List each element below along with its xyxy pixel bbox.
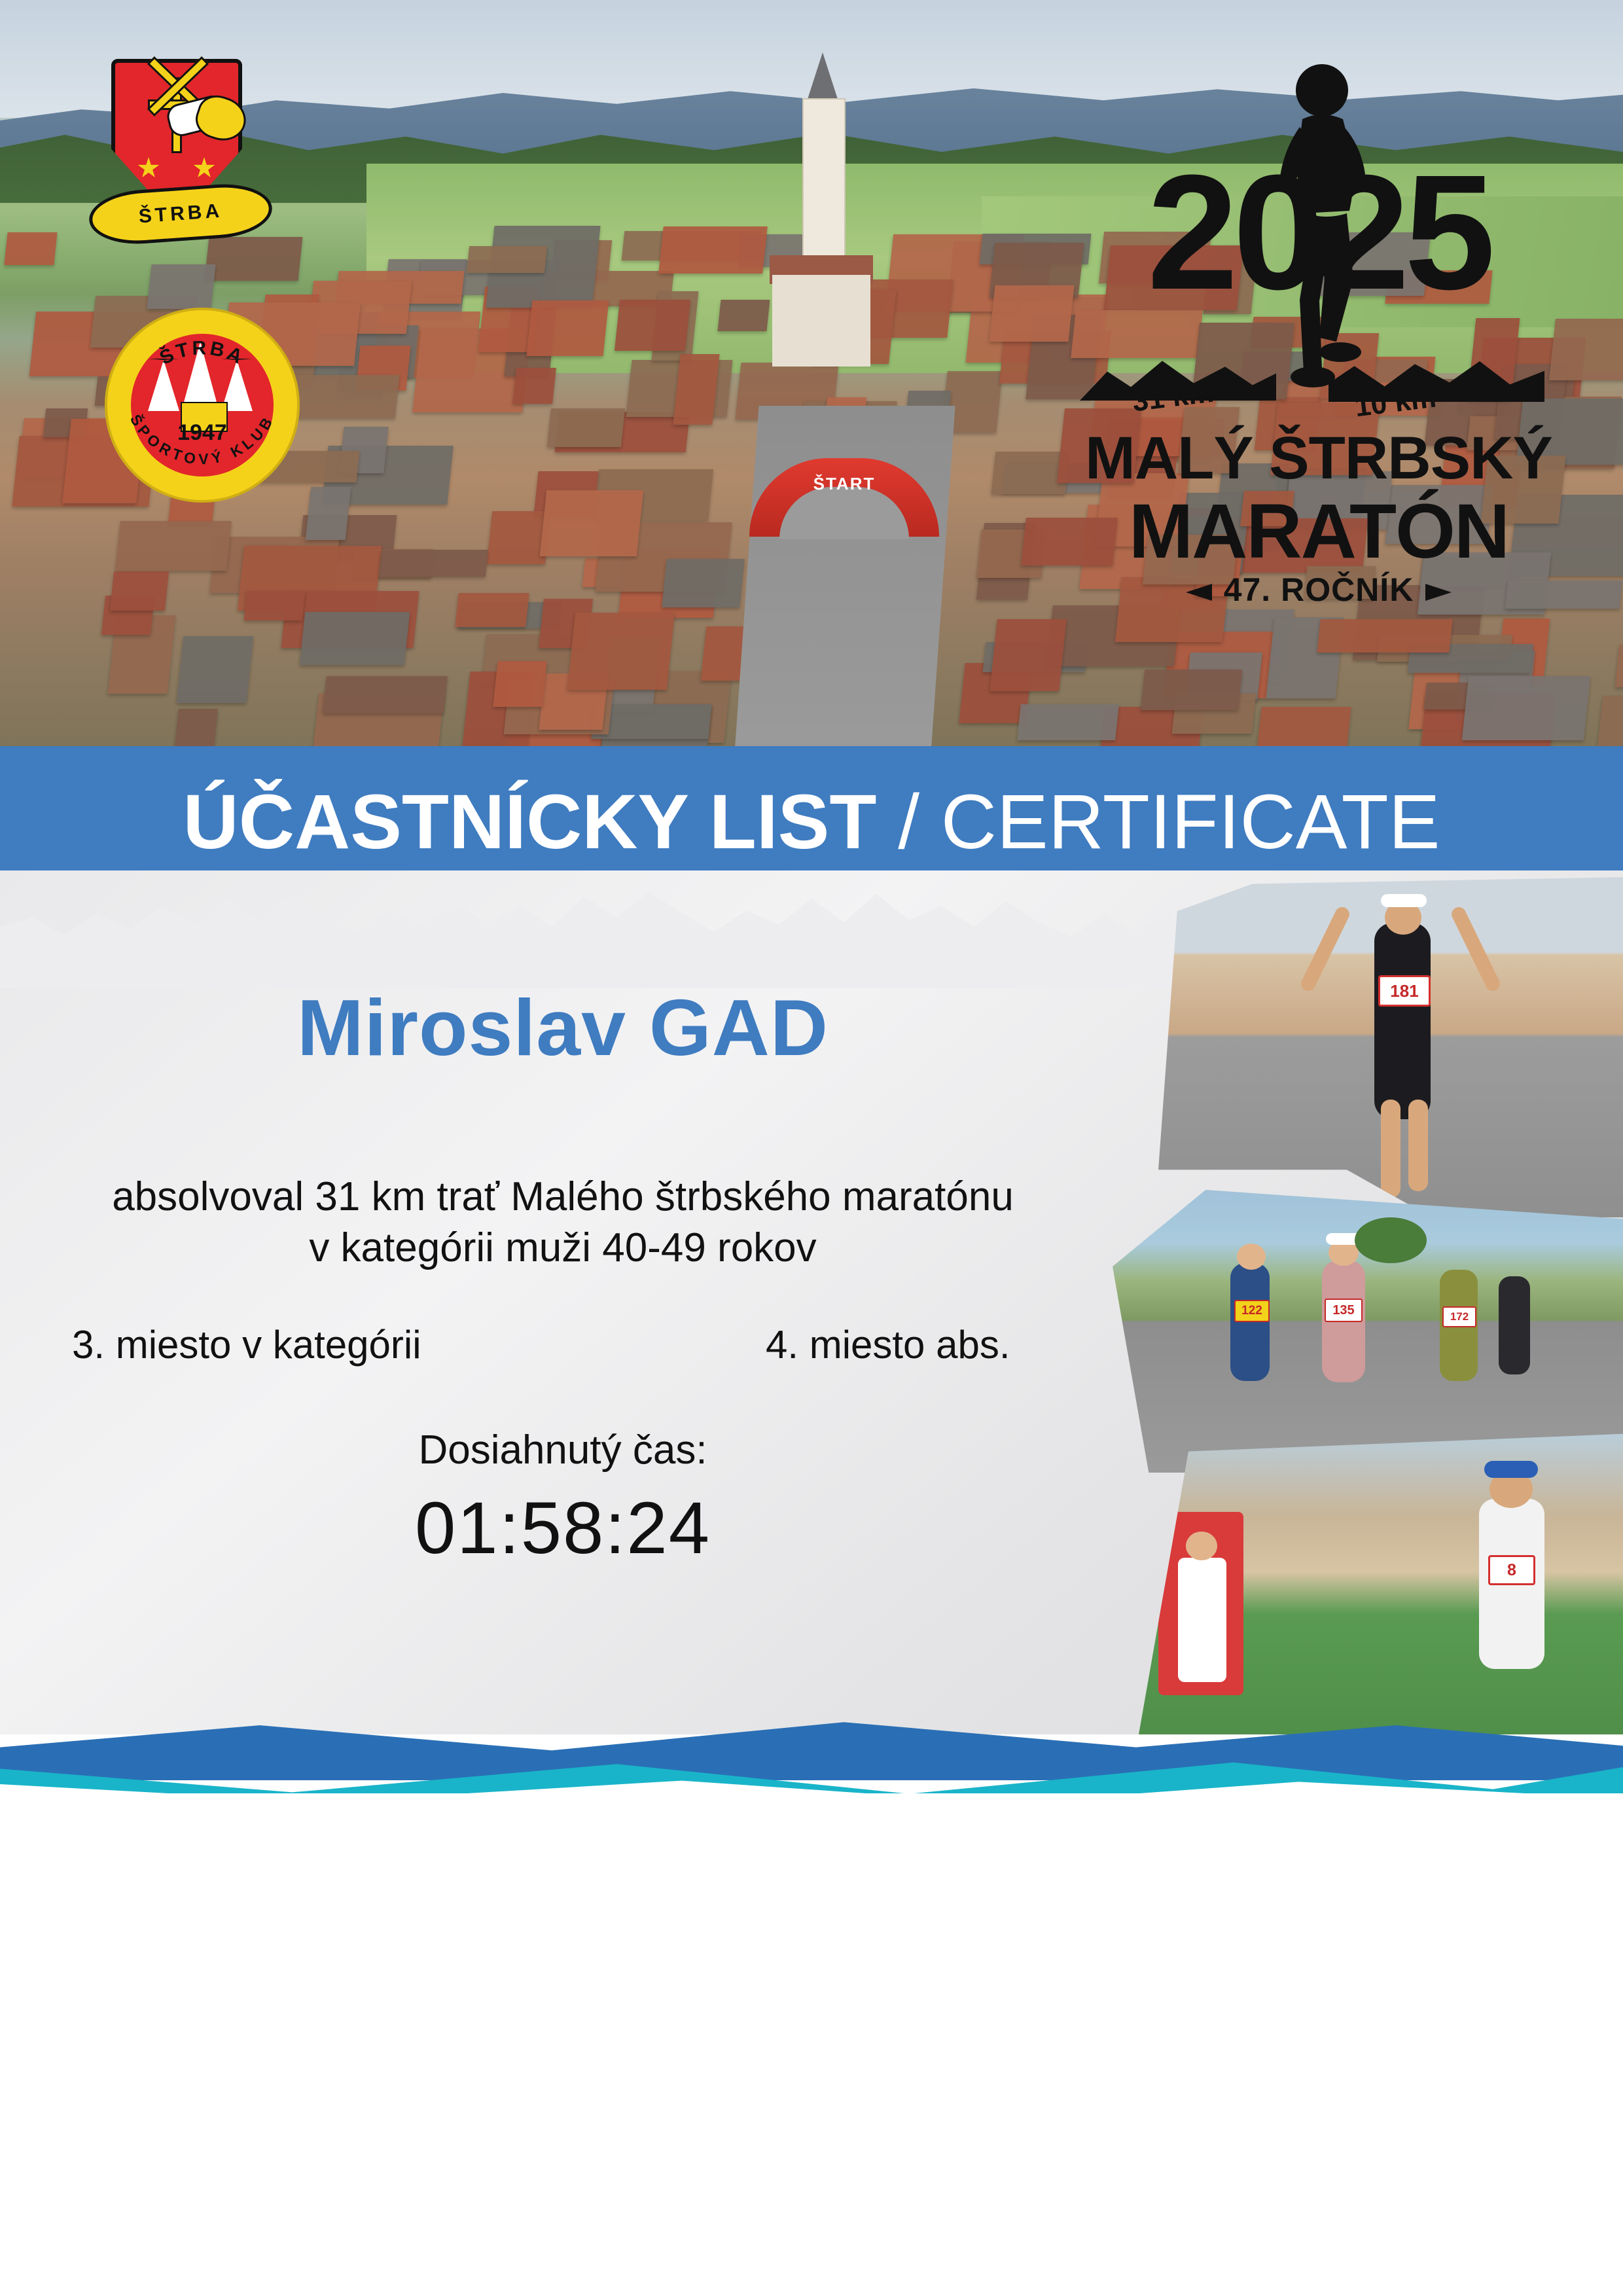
strba-sport-club-crest: 1947 ŠTRBA ŠPORTOVÝ KLUB: [105, 308, 300, 503]
event-edition: 47. ROČNÍK: [1060, 571, 1577, 609]
village-roof: [540, 490, 644, 556]
village-roof: [115, 521, 232, 571]
bib-number-runner-c: 172: [1442, 1306, 1476, 1327]
village-roof: [718, 300, 770, 331]
description-line-2: v kategórii muži 40-49 rokov: [0, 1223, 1126, 1274]
svg-text:ŠTRBA: ŠTRBA: [156, 337, 248, 369]
place-absolute: 4. miesto abs.: [766, 1322, 1010, 1367]
description-line-1: absolvoval 31 km trať Malého štrbského m…: [0, 1172, 1126, 1223]
photo-collage: 181 122 135 172 8 MALÝ: [1113, 870, 1623, 1734]
event-title-line2: MARATÓN: [1060, 487, 1577, 576]
village-roof: [204, 237, 302, 281]
distance-mountains: 31 km 10 km: [1080, 340, 1558, 419]
village-roof: [673, 354, 720, 425]
village-roof: [147, 264, 215, 309]
hero-photo-village: ŠTART ŠTRBA: [0, 0, 1623, 772]
village-roof: [244, 591, 306, 620]
left-arrow-icon: [1186, 584, 1212, 601]
village-roof: [305, 487, 351, 540]
sponsor-area: V Štrbe 13. júla 2025 PROGRAMTRENČÍNPREŠ…: [0, 1793, 1623, 2296]
village-roof: [1141, 670, 1242, 710]
village-roof: [1462, 676, 1590, 740]
club-crest-text: ŠTRBA ŠPORTOVÝ KLUB: [107, 310, 297, 500]
village-roof: [659, 226, 768, 274]
bib-number-runner-b: 135: [1325, 1299, 1363, 1322]
village-roof: [512, 368, 556, 404]
photo-finisher: 181: [1158, 877, 1623, 1217]
photo-runners-on-course: 122 135 172: [1113, 1178, 1623, 1473]
village-roof: [379, 550, 488, 577]
church-building: [785, 59, 864, 367]
village-roof: [615, 300, 690, 351]
crest-town-name: ŠTRBA: [138, 200, 223, 228]
bib-number-runner-a: 122: [1234, 1300, 1270, 1322]
event-title-line1: MALÝ ŠTRBSKÝ: [1060, 424, 1577, 493]
village-roof: [662, 559, 745, 607]
village-roof: [4, 232, 57, 265]
start-arch: ŠTART: [749, 458, 939, 556]
strba-town-crest: ŠTRBA: [111, 59, 242, 223]
certificate-description: absolvoval 31 km trať Malého štrbského m…: [0, 1172, 1126, 1274]
village-roof: [526, 300, 609, 356]
title-bold-part: ÚČASTNÍCKY LIST: [183, 779, 877, 865]
village-roof: [466, 246, 547, 273]
village-roof: [1317, 619, 1454, 653]
village-roof: [323, 676, 448, 713]
page-title: ÚČASTNÍCKY LIST / CERTIFICATE: [0, 776, 1623, 868]
svg-text:ŠPORTOVÝ KLUB: ŠPORTOVÝ KLUB: [127, 411, 277, 467]
time-label: Dosiahnutý čas:: [0, 1427, 1126, 1473]
bib-number-winner: 8: [1488, 1555, 1535, 1585]
village-roof: [176, 636, 253, 703]
village-roof: [455, 593, 529, 627]
participant-name: Miroslav GAD: [0, 982, 1126, 1073]
event-logo: 2025 31 km 10 km MALÝ ŠTRB: [1060, 39, 1577, 615]
placement-row: 3. miesto v kategórii 4. miesto abs.: [0, 1322, 1126, 1381]
right-arrow-icon: [1425, 584, 1452, 601]
village-roof: [493, 661, 547, 707]
bib-number-finisher: 181: [1378, 975, 1431, 1007]
village-roof: [567, 613, 675, 690]
village-roof: [299, 612, 409, 665]
photo-winner-finish: 8 MALÝ ŠTRBSKÝ MARATÓN MALÝ ŠTRBSKÝ MARA…: [1139, 1433, 1623, 1734]
village-roof: [990, 619, 1067, 691]
village-roof: [547, 408, 625, 447]
village-roof: [1017, 704, 1119, 740]
time-value: 01:58:24: [0, 1486, 1126, 1570]
certificate-page: ŠTART ŠTRBA: [0, 0, 1623, 2296]
place-in-category: 3. miesto v kategórii: [72, 1322, 421, 1367]
village-roof: [109, 571, 169, 611]
title-light-part: / CERTIFICATE: [876, 779, 1440, 865]
village-roof: [1614, 645, 1623, 687]
